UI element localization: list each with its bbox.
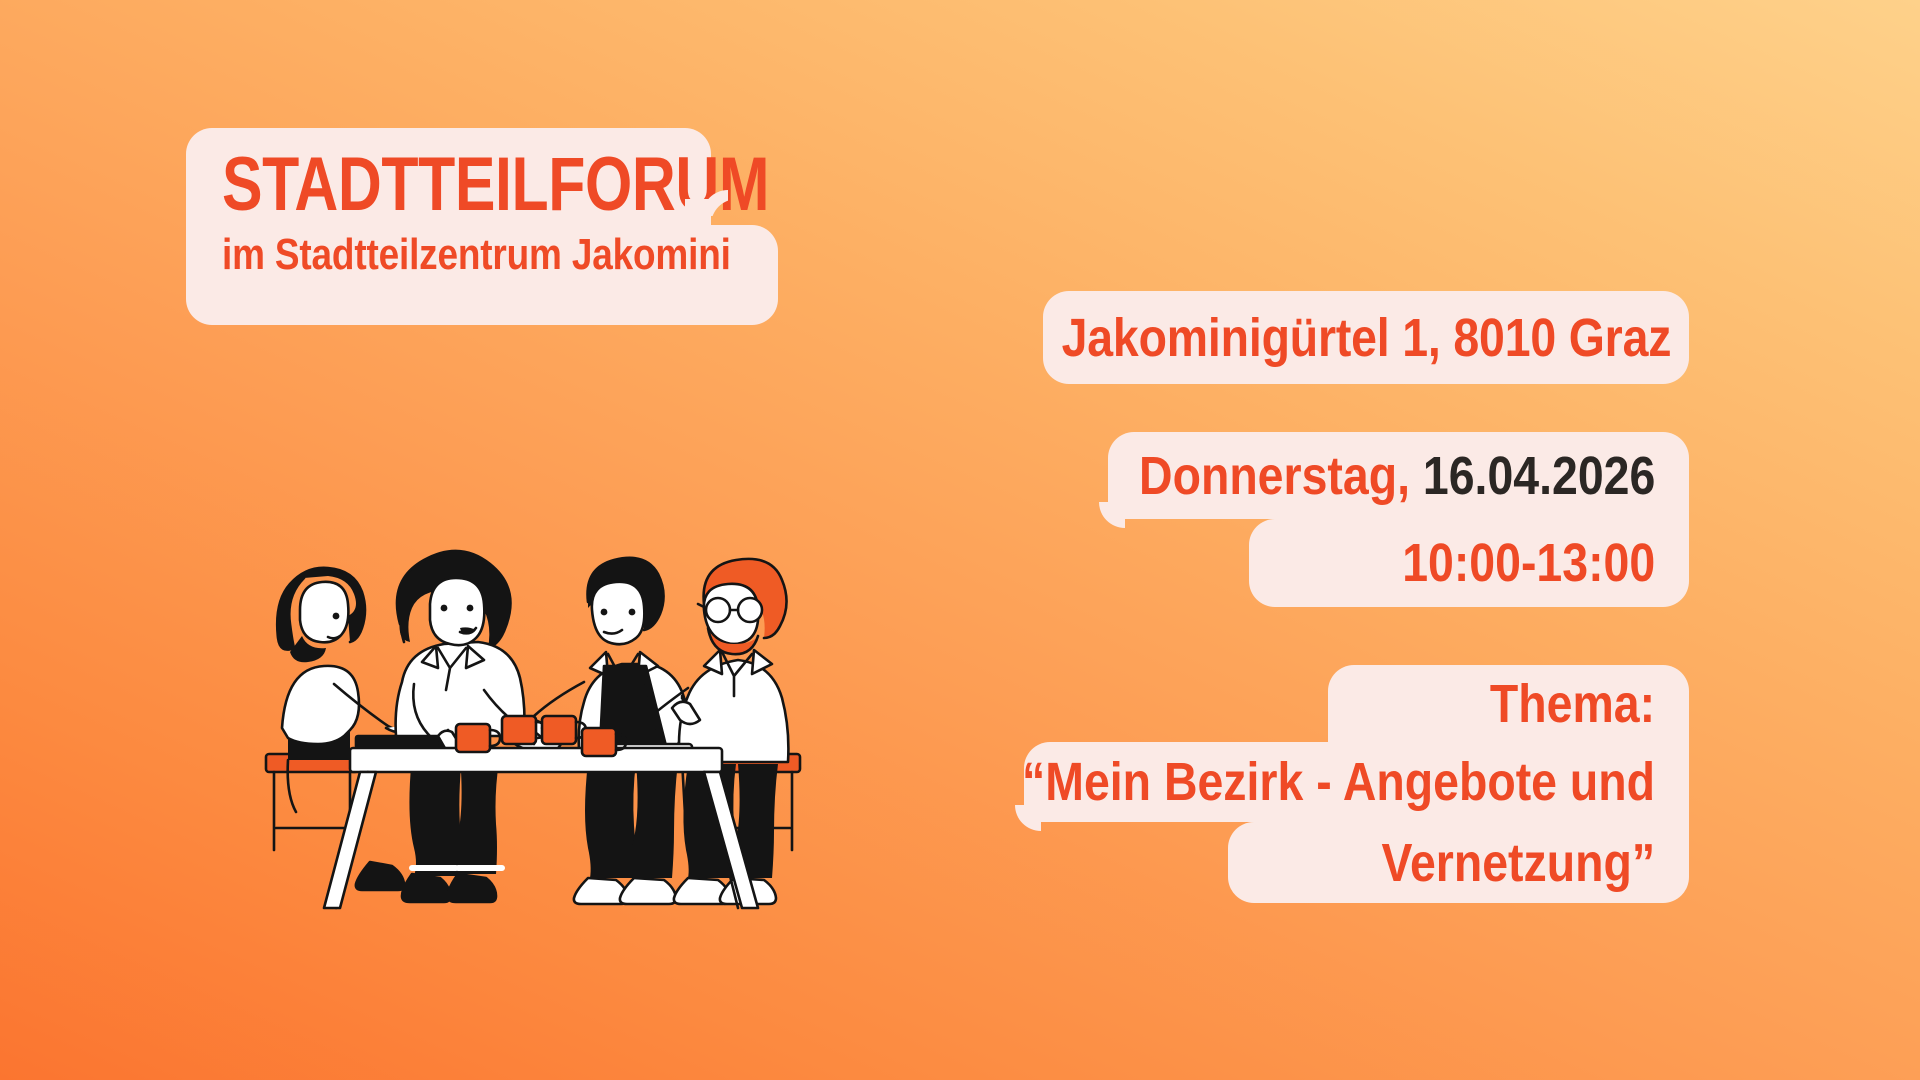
meeting-illustration — [252, 532, 812, 912]
address-card: Jakominigürtel 1, 8010 Graz — [1043, 291, 1689, 384]
four-people-meeting-icon — [252, 532, 812, 912]
topic-line-1: “Mein Bezirk - Angebote und — [1022, 753, 1655, 811]
title-card-row-top: STADTTEILFORUM — [186, 128, 711, 225]
topic-card: Thema: “Mein Bezirk - Angebote und Verne… — [1024, 665, 1689, 903]
title-card: STADTTEILFORUM im Stadtteilzentrum Jakom… — [186, 128, 778, 325]
person-curly — [396, 551, 558, 876]
topic-line-2: Vernetzung” — [1381, 834, 1655, 892]
title-card-row-bottom: im Stadtteilzentrum Jakomini — [186, 225, 778, 325]
address-text: Jakominigürtel 1, 8010 Graz — [1061, 309, 1671, 367]
topic-card-row-line2: Vernetzung” — [1228, 822, 1689, 903]
poster-canvas: STADTTEILFORUM im Stadtteilzentrum Jakom… — [0, 0, 1920, 1080]
date-time-card: Donnerstag, 16.04.2026 10:00-13:00 — [1108, 432, 1689, 607]
topic-card-row-label: Thema: — [1328, 665, 1689, 742]
date-line: Donnerstag, 16.04.2026 — [1139, 447, 1655, 505]
title-card-step-fill — [685, 199, 711, 225]
date-card-row-bottom: 10:00-13:00 — [1249, 519, 1689, 607]
topic-card-row-line1: “Mein Bezirk - Angebote und — [1024, 742, 1689, 822]
topic-label: Thema: — [1490, 675, 1655, 733]
page-subtitle: im Stadtteilzentrum Jakomini — [222, 231, 731, 279]
date-card-row-top: Donnerstag, 16.04.2026 — [1108, 432, 1689, 519]
shoe — [356, 862, 404, 890]
time-text: 10:00-13:00 — [1402, 534, 1655, 592]
date-text: 16.04.2026 — [1423, 446, 1655, 506]
weekday-text: Donnerstag, — [1139, 446, 1410, 506]
